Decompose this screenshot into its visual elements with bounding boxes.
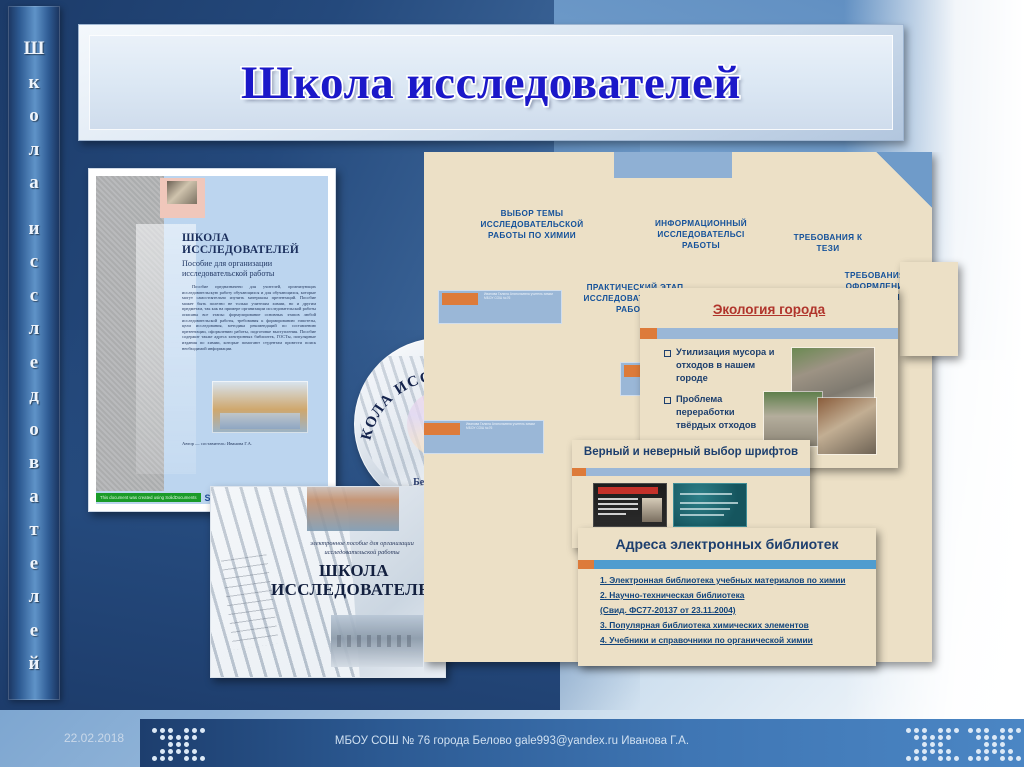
fonts-title: Верный и неверный выбор шрифтов	[572, 446, 810, 458]
footer-dot	[984, 728, 989, 733]
footer-dot	[914, 749, 919, 754]
book-title-line1: ШКОЛА	[271, 561, 437, 580]
footer-dot	[1008, 728, 1013, 733]
footer-dot	[984, 756, 989, 761]
roadmap-label[interactable]: ВЫБОР ТЕМЫ ИССЛЕДОВАТЕЛЬСКОЙ РАБОТЫ ПО Х…	[470, 208, 594, 241]
vertical-title-char: т	[29, 513, 38, 547]
footer-dot	[946, 749, 951, 754]
footer-dot	[1016, 728, 1021, 733]
presentation-slide: Школаисследователей Школа исследователей…	[0, 0, 1024, 767]
libraries-accent-square	[578, 560, 594, 569]
footer-dot	[938, 735, 943, 740]
footer-dot	[930, 742, 935, 747]
vertical-title-char: о	[29, 99, 39, 133]
fonts-sample-good	[674, 484, 746, 526]
vertical-title-char: е	[30, 346, 38, 380]
vertical-title-char: л	[29, 312, 40, 346]
solid-watermark-text: This document was created using SolidDoc…	[96, 493, 201, 502]
footer-dot	[1008, 749, 1013, 754]
book-photo-classroom	[331, 615, 423, 667]
book-subtitle: электронное пособие для организации иссл…	[289, 539, 435, 557]
footer-dot	[168, 742, 173, 747]
libraries-slide: Адреса электронных библиотек 1. Электрон…	[578, 528, 876, 666]
footer-dot	[922, 728, 927, 733]
footer-dot	[176, 742, 181, 747]
fonts-sample-bad	[594, 484, 666, 526]
mini-accent-square	[442, 293, 478, 305]
footer-dot	[968, 728, 973, 733]
book-photo-chemistry	[307, 486, 399, 531]
footer-dot-pattern-right-a	[904, 726, 966, 760]
vertical-title-char: а	[29, 166, 39, 200]
document-title: ШКОЛА ИССЛЕДОВАТЕЛЕЙ	[182, 232, 316, 256]
footer-dot	[184, 756, 189, 761]
libraries-divider	[578, 560, 876, 569]
list-item: Проблема переработки твёрдых отходов	[664, 393, 776, 432]
footer-dot	[992, 749, 997, 754]
footer-dot	[992, 742, 997, 747]
footer-dot	[968, 756, 973, 761]
footer-dot	[954, 728, 959, 733]
footer-dot	[184, 749, 189, 754]
roadmap-label[interactable]: ИНФОРМАЦИОННЫЙ ИССЛЕДОВАТЕЛЬСІ РАБОТЫ	[646, 218, 756, 251]
footer-dot	[1000, 756, 1005, 761]
footer-dot	[984, 735, 989, 740]
footer-dot	[914, 728, 919, 733]
footer-dot	[192, 728, 197, 733]
page-title: Школа исследователей	[79, 25, 903, 140]
document-sheet: ШКОЛА ИССЛЕДОВАТЕЛЕЙ Пособие для организ…	[96, 176, 328, 504]
vertical-title-char: в	[29, 446, 39, 480]
fonts-divider	[572, 468, 810, 476]
footer-dot	[906, 756, 911, 761]
document-side-band	[96, 176, 164, 504]
footer-dot	[946, 728, 951, 733]
footer-dot	[1000, 749, 1005, 754]
ecology-accent-square	[640, 328, 657, 339]
slide-fragment-right	[900, 262, 958, 356]
vertical-title-char: а	[29, 480, 39, 514]
footer-dot	[152, 728, 157, 733]
roadmap-corner-fold	[876, 152, 932, 208]
footer-dot	[1000, 728, 1005, 733]
fonts-accent-square	[572, 468, 586, 476]
list-item[interactable]: (Свид. ФС77-20137 от 23.11.2004)	[600, 604, 864, 617]
footer-dot	[184, 742, 189, 747]
list-item[interactable]: 2. Научно-техническая библиотека	[600, 589, 864, 602]
footer-dot	[922, 742, 927, 747]
footer-dot	[184, 735, 189, 740]
footer-dot	[930, 749, 935, 754]
book-title-line2: ИССЛЕДОВАТЕЛЕЙ	[271, 580, 437, 599]
mini-accent-square	[424, 423, 460, 435]
footer-dot	[976, 756, 981, 761]
vertical-title-char: д	[29, 379, 39, 413]
vertical-title-char: о	[29, 413, 39, 447]
footer-dot	[922, 735, 927, 740]
ecology-divider	[640, 328, 898, 339]
roadmap-label[interactable]: ТРЕБОВАНИЯ К ТЕЗИ	[782, 232, 874, 254]
footer-dot	[1016, 756, 1021, 761]
list-item[interactable]: 4. Учебники и справочники по органическо…	[600, 634, 864, 647]
list-item: Утилизация мусора и отходов в нашем горо…	[664, 346, 776, 385]
footer-dot	[922, 749, 927, 754]
footer-dot	[160, 756, 165, 761]
footer-dot	[1000, 735, 1005, 740]
footer-dot	[168, 749, 173, 754]
mini-caption: Иванова Галина Анатольевна учитель химии…	[484, 292, 559, 300]
footer-dot	[984, 742, 989, 747]
footer-dot	[930, 735, 935, 740]
footer-dot	[192, 756, 197, 761]
document-body-text: Пособие предназначено для учителей, орга…	[182, 284, 316, 351]
footer-dot	[938, 728, 943, 733]
footer-dot	[946, 735, 951, 740]
footer-dot	[992, 735, 997, 740]
footer-dot	[954, 756, 959, 761]
footer-dot	[1008, 735, 1013, 740]
ecology-title: Экология города	[640, 302, 898, 317]
footer-dot	[938, 749, 943, 754]
footer-dot	[152, 756, 157, 761]
document-subtitle: Пособие для организации исследовательско…	[182, 259, 316, 278]
footer-dot	[160, 735, 165, 740]
footer-dot	[946, 756, 951, 761]
vertical-title-char: с	[30, 245, 38, 279]
libraries-title: Адреса электронных библиотек	[578, 536, 876, 552]
footer-dot-pattern-right-b	[966, 726, 1024, 760]
ecology-bullet-list: Утилизация мусора и отходов в нашем горо…	[664, 346, 776, 440]
footer-dot	[200, 756, 205, 761]
vertical-title-char: с	[30, 279, 38, 313]
vertical-title-char: й	[29, 647, 40, 681]
footer-dot	[160, 728, 165, 733]
footer-dot	[176, 749, 181, 754]
roadmap-mini-slide[interactable]: Иванова Галина Анатольевна учитель химии…	[438, 290, 562, 324]
document-photo-thumb	[160, 178, 205, 218]
footer-dot	[1000, 742, 1005, 747]
footer-dot	[168, 756, 173, 761]
book-title: ШКОЛА ИССЛЕДОВАТЕЛЕЙ	[271, 561, 437, 599]
mini-caption: Иванова Галина Анатольевна учитель химии…	[466, 422, 541, 430]
footer-dot	[914, 756, 919, 761]
vertical-title-char: е	[30, 547, 38, 581]
document-page-thumbnail: ШКОЛА ИССЛЕДОВАТЕЛЕЙ Пособие для организ…	[88, 168, 336, 512]
roadmap-mini-slide[interactable]: Иванова Галина Анатольевна учитель химии…	[424, 420, 544, 454]
vertical-title-char: и	[29, 212, 40, 246]
footer-dot	[168, 728, 173, 733]
ecology-photo-waste	[818, 398, 876, 454]
book-cover-image: электронное пособие для организации иссл…	[210, 486, 446, 678]
footer-dot-pattern-left	[150, 726, 212, 760]
document-caption: Автор — составитель: Иванова Г.А.	[182, 441, 252, 446]
document-illustration	[212, 381, 308, 433]
vertical-title-bar: Школаисследователей	[8, 6, 60, 700]
vertical-title-char: л	[29, 580, 40, 614]
footer-dot	[938, 742, 943, 747]
vertical-title-char: Ш	[24, 32, 45, 66]
title-plaque: Школа исследователей	[78, 24, 904, 141]
footer-dot	[192, 735, 197, 740]
slide-footer: 22.02.2018 МБОУ СОШ № 76 города Белово g…	[0, 719, 1024, 767]
footer-dot	[168, 735, 173, 740]
footer-dot	[922, 756, 927, 761]
ecology-photo-dump	[764, 392, 822, 446]
footer-dot	[914, 735, 919, 740]
footer-dot	[160, 749, 165, 754]
list-item[interactable]: 3. Популярная библиотека химических элем…	[600, 619, 864, 632]
libraries-link-list: 1. Электронная библиотека учебных матери…	[600, 574, 864, 649]
footer-dot	[906, 728, 911, 733]
footer-dot	[976, 735, 981, 740]
footer-dot	[976, 749, 981, 754]
footer-dot	[192, 749, 197, 754]
vertical-title-char: е	[30, 614, 38, 648]
vertical-title-char: л	[29, 133, 40, 167]
footer-dot	[176, 735, 181, 740]
footer-dot	[1008, 756, 1013, 761]
roadmap-notch	[614, 152, 732, 178]
vertical-title-char: к	[29, 66, 40, 100]
footer-dot	[976, 728, 981, 733]
list-item[interactable]: 1. Электронная библиотека учебных матери…	[600, 574, 864, 587]
footer-dot	[184, 728, 189, 733]
footer-dot	[984, 749, 989, 754]
footer-dot	[200, 728, 205, 733]
footer-dot	[938, 756, 943, 761]
